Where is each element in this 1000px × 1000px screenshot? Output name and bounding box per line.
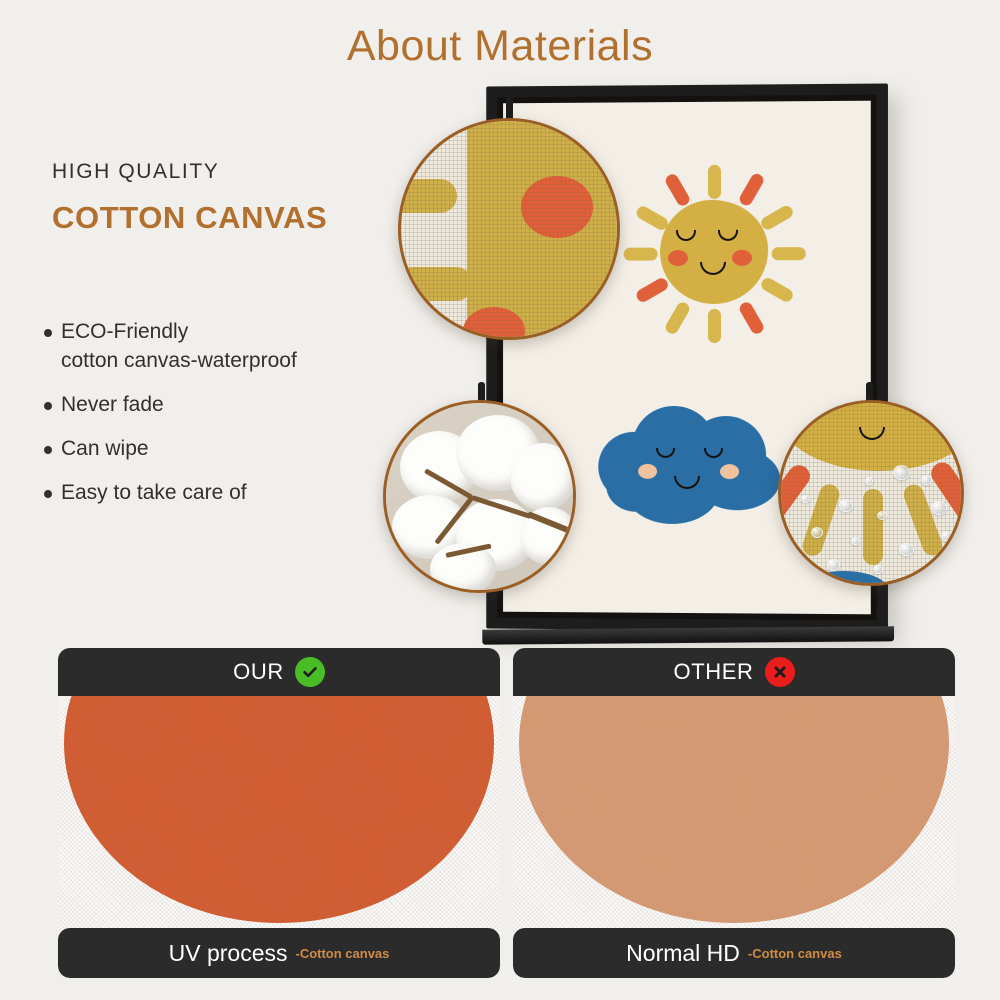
comparison-footer-main-our: UV process <box>169 940 288 967</box>
frame-bottom-edge <box>482 626 894 644</box>
bullet-dot-icon <box>44 402 52 410</box>
infographic-page: About Materials HIGH QUALITY COTTON CANV… <box>0 0 1000 1000</box>
canvas-weave-closeup-bubble <box>398 118 620 340</box>
feature-bullet-list: ECO-Friendly cotton canvas-waterproof Ne… <box>44 318 404 523</box>
cloud-cheek-right <box>720 464 739 479</box>
bullet-dot-icon <box>44 329 52 337</box>
comparison-footer-sub-other: -Cotton canvas <box>748 946 842 961</box>
list-item: Never fade <box>44 391 404 420</box>
sun-eye-right <box>718 230 738 241</box>
comparison-header-label-our: OUR <box>233 659 284 685</box>
comparison-footer-other: Normal HD -Cotton canvas <box>513 928 955 978</box>
comparison-header-other: OTHER <box>513 648 955 696</box>
waterproof-droplets-bubble <box>778 400 964 586</box>
sun-cheek-left <box>668 250 688 266</box>
left-copy-block: HIGH QUALITY COTTON CANVAS <box>52 160 412 236</box>
weave-texture <box>401 121 617 337</box>
comparison-header-our: OUR <box>58 648 500 696</box>
cross-icon <box>765 657 795 687</box>
bullet-label: ECO-Friendly cotton canvas-waterproof <box>61 318 297 376</box>
sun-face <box>660 200 768 304</box>
comparison-panel-our: OUR UV process -Cotton canvas <box>58 648 500 978</box>
comparison-footer-our: UV process -Cotton canvas <box>58 928 500 978</box>
bullet-label: Can wipe <box>61 435 149 464</box>
sun-mouth <box>700 262 726 275</box>
cotton-boll-photo-bubble <box>383 400 576 593</box>
sun-eye-left <box>676 230 696 241</box>
bullet-label: Easy to take care of <box>61 479 247 508</box>
list-item: Easy to take care of <box>44 479 404 508</box>
headline-text: COTTON CANVAS <box>52 200 412 236</box>
comparison-panel-other: OTHER Normal HD -Cotton canvas <box>513 648 955 978</box>
check-icon <box>295 657 325 687</box>
eyebrow-text: HIGH QUALITY <box>52 160 412 184</box>
sun-illustration <box>614 153 814 354</box>
sun-cheek-right <box>732 250 752 266</box>
cloud-cheek-left <box>638 464 657 479</box>
bullet-label: Never fade <box>61 391 164 420</box>
bullet-dot-icon <box>44 490 52 498</box>
cloud-illustration <box>598 402 788 528</box>
list-item: Can wipe <box>44 435 404 464</box>
page-title: About Materials <box>0 22 1000 71</box>
comparison-header-label-other: OTHER <box>674 659 754 685</box>
bullet-dot-icon <box>44 446 52 454</box>
list-item: ECO-Friendly cotton canvas-waterproof <box>44 318 404 376</box>
comparison-footer-main-other: Normal HD <box>626 940 740 967</box>
comparison-footer-sub-our: -Cotton canvas <box>295 946 389 961</box>
